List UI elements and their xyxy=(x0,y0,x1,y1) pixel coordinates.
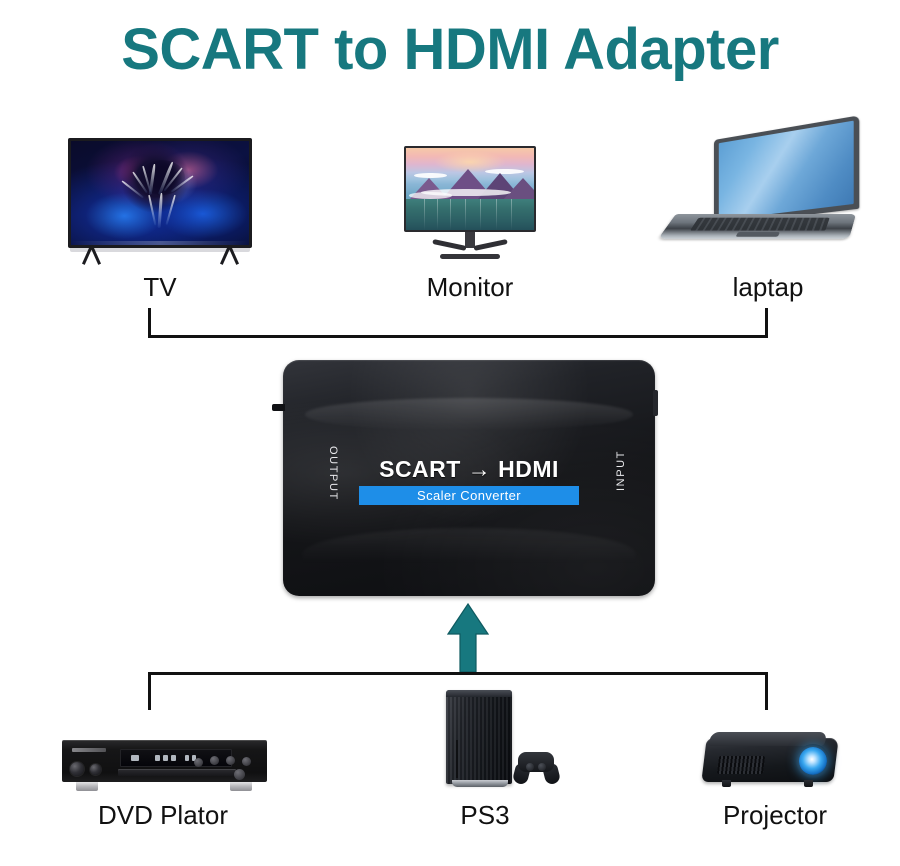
upward-flow-arrow-icon xyxy=(447,603,489,673)
laptop-icon xyxy=(676,140,860,258)
connector-bottom-right-stub xyxy=(765,672,768,710)
television-icon xyxy=(68,138,252,266)
monitor-stand-left xyxy=(432,239,466,251)
device-label-laptop: laptap xyxy=(676,272,860,303)
dvd-brand-mark xyxy=(72,748,106,752)
projector-icon xyxy=(700,728,850,792)
tv-screen xyxy=(71,141,249,245)
dvd-button-1 xyxy=(194,758,203,767)
projector-foot-left xyxy=(722,780,731,787)
monitor-wallpaper-foreground xyxy=(406,199,534,230)
dvd-foot-left xyxy=(76,782,98,791)
monitor-stand-base xyxy=(440,254,500,259)
tv-foot-right xyxy=(228,246,230,266)
ps3-top-cap xyxy=(446,690,512,697)
dvd-foot-right xyxy=(230,782,252,791)
dvd-knob-small xyxy=(90,764,101,775)
converter-right-port xyxy=(653,390,658,416)
device-label-projector: Projector xyxy=(690,800,860,831)
connector-top-right-stub xyxy=(765,308,768,338)
device-label-dvd-player: DVD Plator xyxy=(58,800,268,831)
dvd-body xyxy=(62,740,267,782)
dvd-button-5 xyxy=(234,769,245,780)
monitor-screen xyxy=(406,148,534,230)
converter-subtitle-text: Scaler Converter xyxy=(417,488,521,503)
tv-foot-left xyxy=(90,246,92,266)
ps3-controller xyxy=(504,748,566,782)
dvd-knob-large xyxy=(70,762,84,776)
game-console-icon xyxy=(440,690,570,790)
laptop-trackpad xyxy=(736,232,780,237)
ps3-vertical-stand xyxy=(452,780,508,787)
connector-top-bus xyxy=(148,335,768,338)
dvd-button-4 xyxy=(242,757,251,766)
device-label-ps3: PS3 xyxy=(420,800,550,831)
converter-subtitle-band: Scaler Converter xyxy=(359,486,579,505)
connector-bottom-left-stub xyxy=(148,672,151,710)
diagram-canvas: SCART to HDMI Adapter TV xyxy=(0,0,900,866)
dvd-button-3 xyxy=(226,756,235,765)
ps3-console-body xyxy=(446,690,512,784)
laptop-lid xyxy=(714,115,859,226)
dvd-player-icon xyxy=(62,740,267,792)
scart-to-hdmi-converter: OUTPUT SCART → HDMI Scaler Converter INP… xyxy=(283,360,655,596)
monitor-bezel xyxy=(404,146,536,232)
tv-chin xyxy=(70,248,250,252)
device-label-tv: TV xyxy=(68,272,252,303)
projector-lens-glow xyxy=(799,747,827,775)
dvd-button-2 xyxy=(210,756,219,765)
laptop-base xyxy=(658,214,856,239)
connector-bottom-bus xyxy=(148,672,768,675)
dvd-disc-tray xyxy=(118,769,236,776)
converter-brand-text: SCART → HDMI xyxy=(283,456,655,483)
connector-top-left-stub xyxy=(148,308,151,338)
projector-foot-right xyxy=(804,780,813,787)
device-label-monitor: Monitor xyxy=(390,272,550,303)
monitor-stand-right xyxy=(473,239,507,251)
laptop-keyboard xyxy=(690,218,829,231)
laptop-screen xyxy=(719,121,854,221)
projector-vent xyxy=(717,756,765,774)
page-title: SCART to HDMI Adapter xyxy=(0,16,900,83)
computer-monitor-icon xyxy=(404,146,536,262)
tv-bezel xyxy=(68,138,252,248)
converter-input-label: INPUT xyxy=(615,450,627,491)
converter-left-port-tab xyxy=(272,404,285,411)
